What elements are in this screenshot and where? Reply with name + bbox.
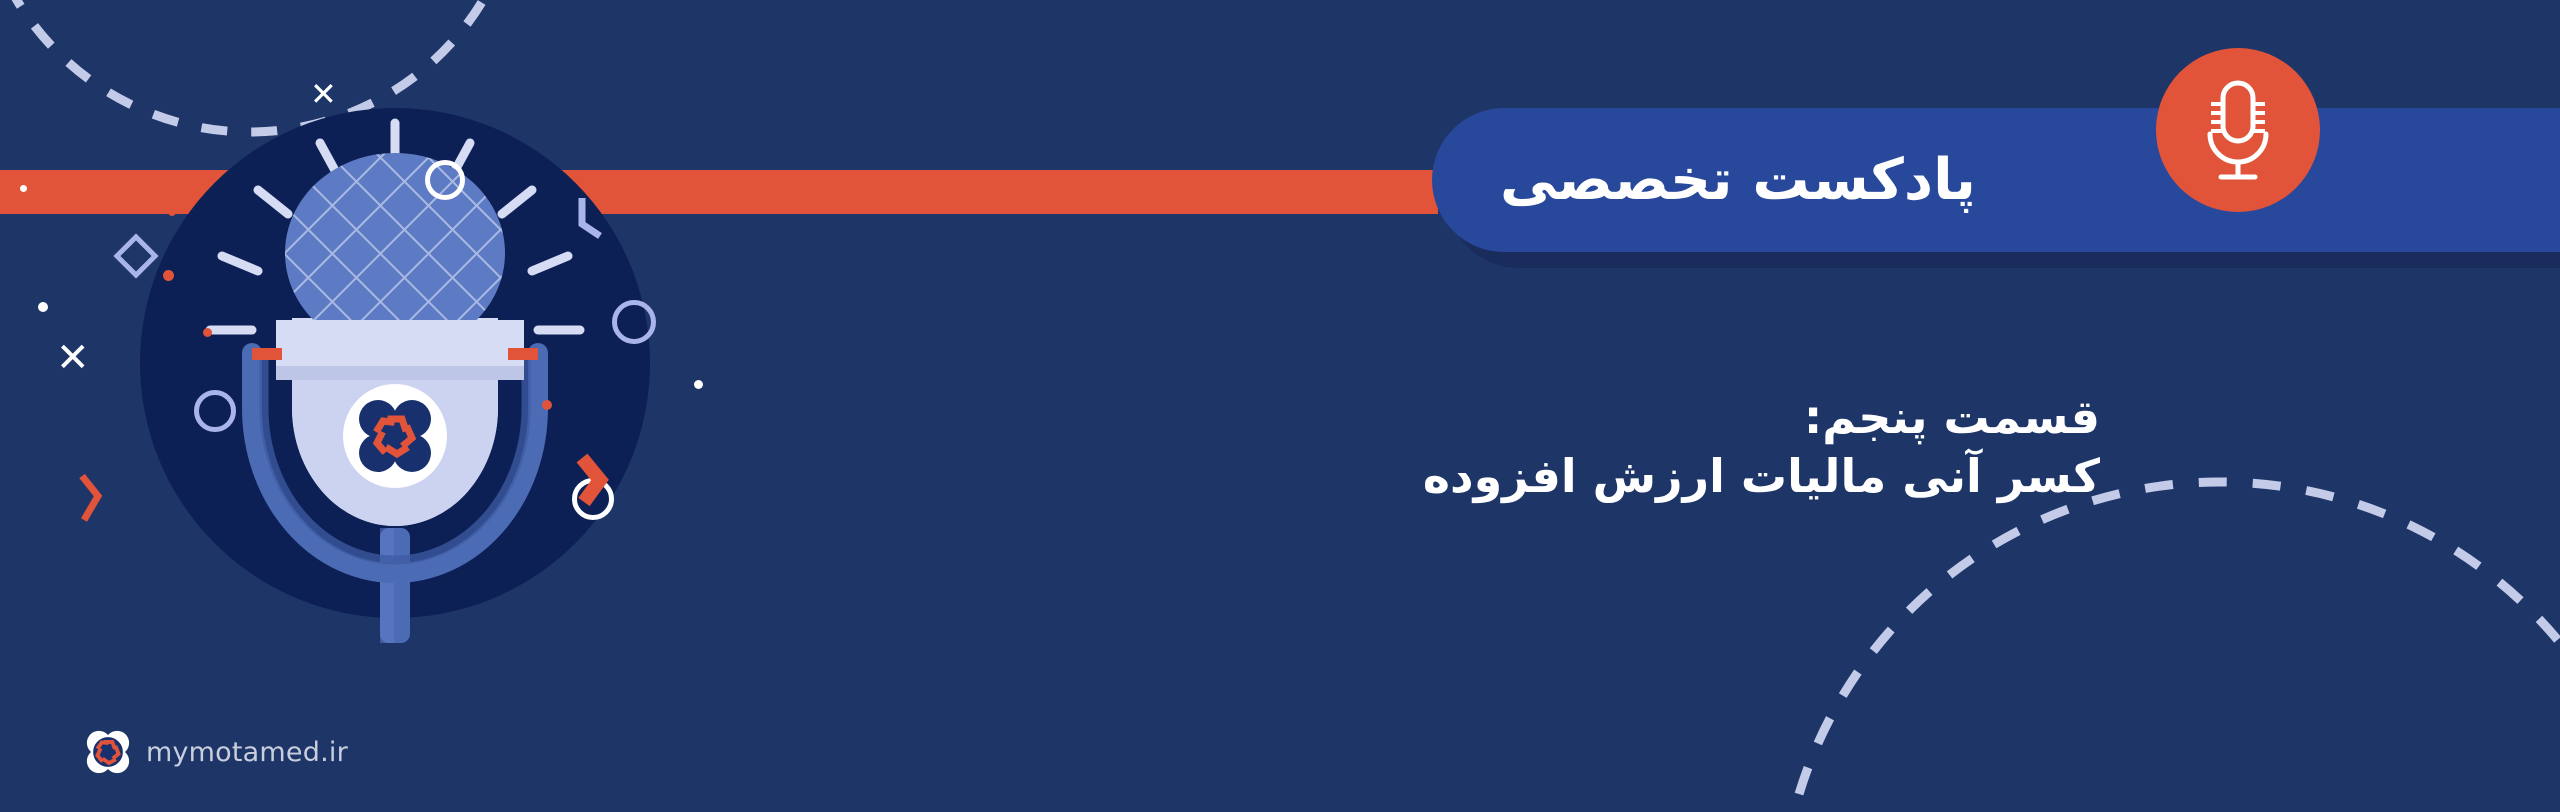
microphone-icon [2199,78,2277,182]
circle-outline-icon [425,160,465,200]
circle-outline-icon [612,300,656,344]
x-mark-icon: ✕ [56,338,90,378]
brand-name: mymotamed.ir [146,737,348,768]
microphone-accent-notch [252,348,282,360]
podcast-banner-canvas: ✕ ✕ پادکست تخصصی [0,0,2560,812]
episode-number-line: قسمت پنجم: [1423,388,2100,447]
banner-microphone-badge [2156,48,2320,212]
circle-outline-icon [194,390,236,432]
dashed-arc-icon [1770,472,2560,812]
chevron-orange-icon [72,470,108,526]
banner-title: پادکست تخصصی [1500,108,2200,252]
chevron-orange-icon [570,450,614,510]
dot-icon [704,195,713,204]
brand-footer[interactable]: mymotamed.ir [84,728,348,776]
microphone-accent-notch [508,348,538,360]
motamed-flower-logo-icon [343,384,447,488]
episode-headline: قسمت پنجم: کسر آنی مالیات ارزش افزوده [1423,388,2100,506]
x-mark-icon: ✕ [310,78,337,110]
dot-icon [168,208,176,216]
dot-icon [203,328,212,337]
dot-icon [20,185,27,192]
motamed-flower-logo-icon [84,728,132,776]
dot-icon [694,380,703,389]
episode-title-line: کسر آنی مالیات ارزش افزوده [1423,447,2100,506]
dot-icon [163,270,174,281]
dot-icon [542,400,552,410]
chevron-lavender-icon [568,190,612,250]
dot-icon [38,302,48,312]
